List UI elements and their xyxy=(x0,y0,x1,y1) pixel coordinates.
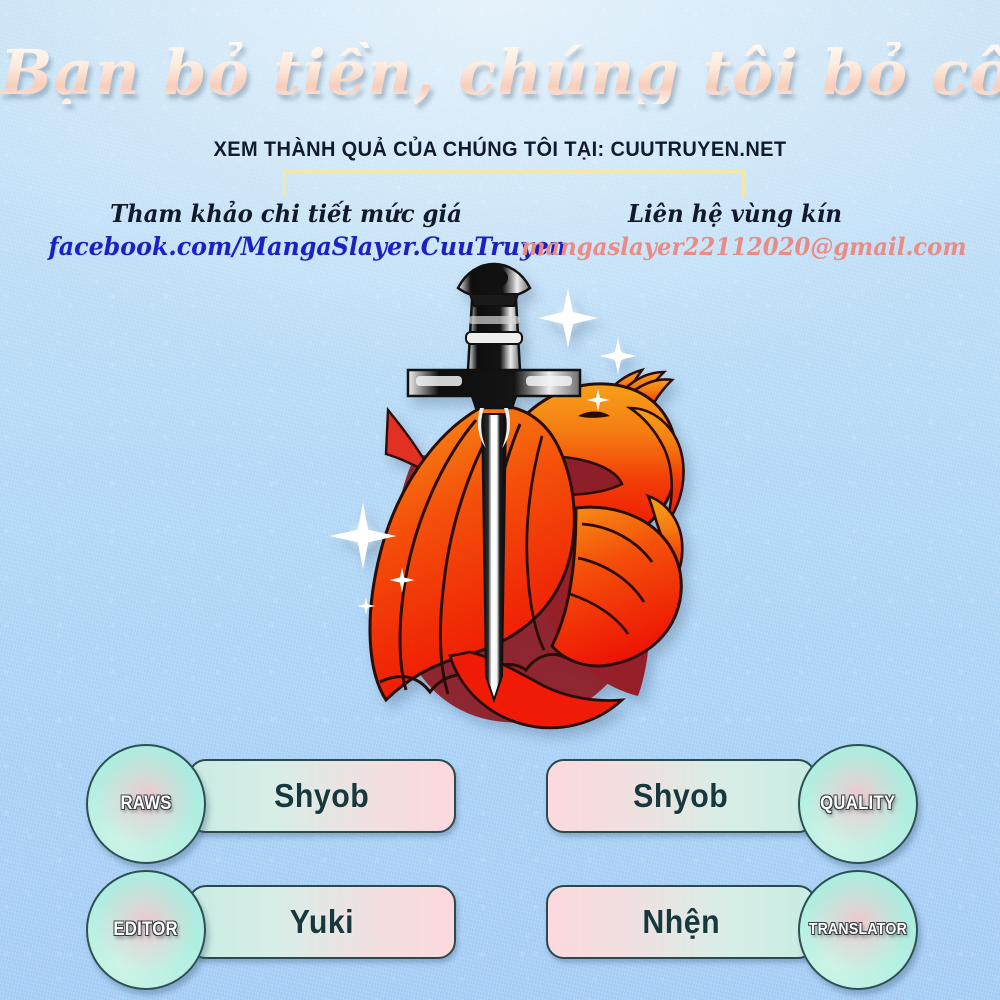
credit-name-pill: Shyob xyxy=(188,759,456,833)
credit-name: Nhện xyxy=(642,903,720,941)
credit-role-badge: EDITOR xyxy=(86,870,206,990)
contact-email-address[interactable]: mangaslayer22112020@gmail.com xyxy=(521,232,949,261)
dragon-sword-emblem xyxy=(330,258,690,744)
contact-facebook-link[interactable]: facebook.com/MangaSlayer.CuuTruyen xyxy=(49,232,524,261)
page-headline: Bạn bỏ tiền, chúng tôi bỏ công sức! xyxy=(0,42,1000,104)
credit-raws: Shyob RAWS xyxy=(86,742,456,870)
credit-role-badge: QUALITY xyxy=(798,744,918,864)
contact-facebook-caption: Tham khảo chi tiết mức giá xyxy=(49,199,524,228)
credit-role: QUALITY xyxy=(820,793,895,815)
credit-name: Yuki xyxy=(290,903,354,941)
credits-block: Shyob RAWS Shyob QUALITY Yuki EDITOR xyxy=(0,742,1000,992)
credit-translator: Nhện TRANSLATOR xyxy=(546,868,918,996)
credit-name-pill: Shyob xyxy=(546,759,816,833)
credit-quality: Shyob QUALITY xyxy=(546,742,918,870)
credit-editor: Yuki EDITOR xyxy=(86,868,456,996)
credit-name-pill: Nhện xyxy=(546,885,816,959)
credit-name-pill: Yuki xyxy=(188,885,456,959)
credit-role-badge: RAWS xyxy=(86,744,206,864)
credit-role: TRANSLATOR xyxy=(809,921,907,939)
contact-email: Liên hệ vùng kín mangaslayer22112020@gma… xyxy=(510,199,960,261)
contact-facebook: Tham khảo chi tiết mức giá facebook.com/… xyxy=(36,199,536,261)
credit-role: RAWS xyxy=(120,793,171,815)
credit-role-badge: TRANSLATOR xyxy=(798,870,918,990)
bracket-connector xyxy=(283,170,745,197)
credit-name: Shyob xyxy=(633,777,728,815)
credit-role: EDITOR xyxy=(114,919,178,941)
credit-name: Shyob xyxy=(274,777,369,815)
site-subline: XEM THÀNH QUẢ CỦA CHÚNG TÔI TẠI: CUUTRUY… xyxy=(35,137,965,162)
contact-email-caption: Liên hệ vùng kín xyxy=(521,199,949,228)
credits-page: Bạn bỏ tiền, chúng tôi bỏ công sức! XEM … xyxy=(0,0,1000,1000)
